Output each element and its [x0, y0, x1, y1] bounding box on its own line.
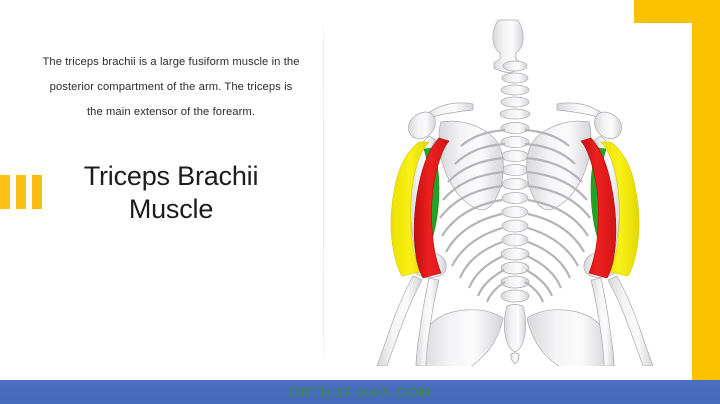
text-column: The triceps brachii is a large fusiform …: [36, 50, 306, 227]
column-divider: [323, 22, 324, 368]
footer-bar: ORTHOFIXAR.COM: [0, 380, 720, 404]
accent-bar-1: [0, 175, 10, 209]
page-title: Triceps Brachii Muscle: [36, 160, 306, 228]
yellow-bracket-right: [692, 0, 720, 380]
page-title-line-2: Muscle: [129, 194, 213, 224]
anatomy-illustration: [355, 18, 675, 366]
watermark-text: ORTHOFIXAR.COM: [288, 384, 431, 400]
accent-bar-2: [16, 175, 26, 209]
page-title-line-1: Triceps Brachii: [84, 161, 259, 191]
body-paragraph: The triceps brachii is a large fusiform …: [36, 50, 306, 126]
slide-canvas: The triceps brachii is a large fusiform …: [0, 0, 720, 404]
